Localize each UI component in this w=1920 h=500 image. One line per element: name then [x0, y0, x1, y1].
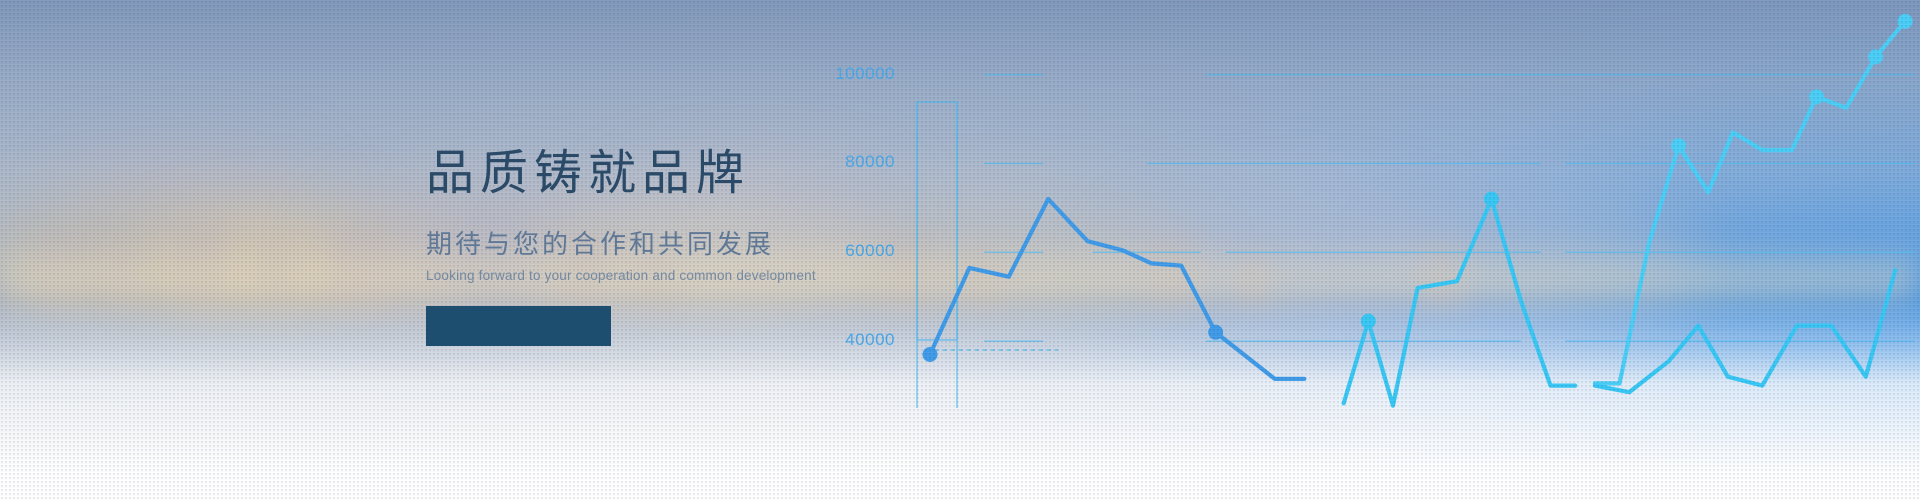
hero-cta-button[interactable] — [426, 306, 611, 346]
hero-copy-block: 品质铸就品牌 期待与您的合作和共同发展 Looking forward to y… — [426, 150, 1066, 283]
hero-banner: 400006000080000100000 品质铸就品牌 期待与您的合作和共同发… — [0, 0, 1920, 500]
hero-subtitle-cn: 期待与您的合作和共同发展 — [426, 224, 1066, 261]
hero-subtitle-en: Looking forward to your cooperation and … — [426, 268, 1066, 283]
page-title: 品质铸就品牌 — [426, 150, 1066, 198]
